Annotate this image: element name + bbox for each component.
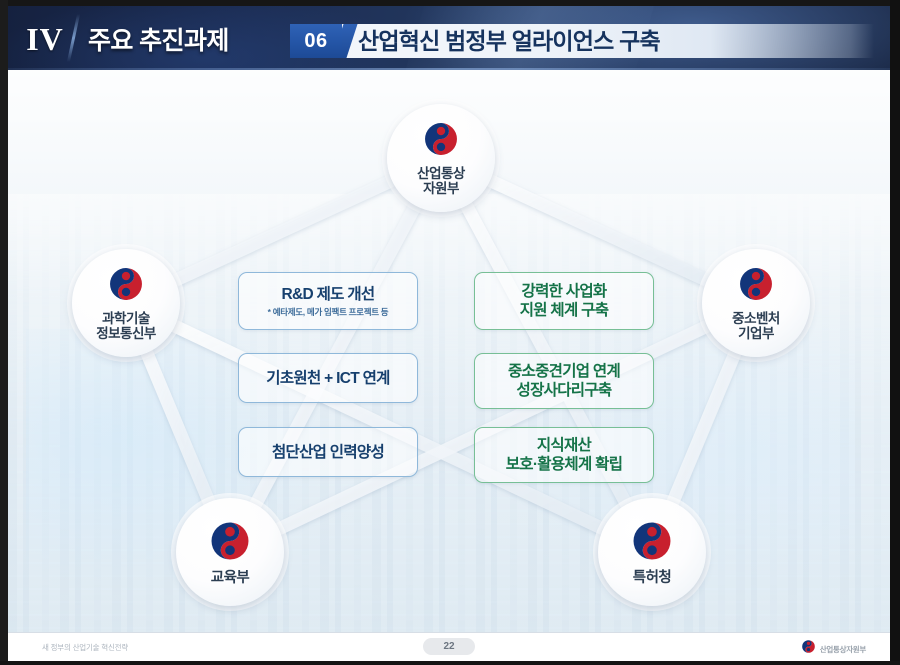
ministry-name-line1: 교육부 xyxy=(211,571,250,586)
ministry-name-line1: 중소벤처 xyxy=(732,311,780,326)
ministry-name-line2: 자원부 xyxy=(417,181,465,196)
slide-frame-top xyxy=(0,0,900,6)
card-title: 첨단산업 인력양성 xyxy=(272,443,384,462)
initiative-card-commercialization[interactable]: 강력한 사업화 지원 체계 구축 xyxy=(474,272,654,330)
page-title: 산업혁신 범정부 얼라이언스 구축 xyxy=(358,25,660,57)
ministry-name-line2: 기업부 xyxy=(732,326,780,341)
slide-frame-left xyxy=(0,0,8,665)
ministry-name-line1: 과학기술 xyxy=(96,311,156,326)
card-title-line2: 성장사다리구축 xyxy=(517,381,612,400)
footer-document-title: 새 정부의 산업기술 혁신전략 xyxy=(42,642,128,653)
item-number-badge: 06 xyxy=(290,24,342,58)
header-divider xyxy=(67,14,80,62)
initiative-card-talent[interactable]: 첨단산업 인력양성 xyxy=(238,427,418,477)
initiative-card-sme-growth-ladder[interactable]: 중소중견기업 연계 성장사다리구축 xyxy=(474,353,654,409)
korea-government-taegeuk-emblem-icon xyxy=(737,265,775,308)
ministry-node-moe[interactable]: 교육부 xyxy=(176,498,284,606)
card-title-line2: 보호·활용체계 확립 xyxy=(506,455,623,474)
ministry-name-line2: 정보통신부 xyxy=(96,326,156,341)
slide-header: IV 주요 추진과제 06 산업혁신 범정부 얼라이언스 구축 xyxy=(8,6,890,70)
korea-government-taegeuk-emblem-icon xyxy=(422,120,460,163)
card-title-line1: 중소중견기업 연계 xyxy=(508,362,620,381)
ministry-node-msit[interactable]: 과학기술 정보통신부 xyxy=(72,249,180,357)
card-title-line1: 지식재산 xyxy=(537,436,591,455)
slide-body: 산업통상 자원부 과학기술 정보통신부 xyxy=(8,70,890,633)
footer-logo-text: 산업통상자원부 xyxy=(820,644,866,655)
card-title: R&D 제도 개선 xyxy=(282,285,375,304)
initiative-card-rnd-system[interactable]: R&D 제도 개선 * 예타제도, 메가 임팩트 프로젝트 등 xyxy=(238,272,418,330)
alliance-diagram: 산업통상 자원부 과학기술 정보통신부 xyxy=(8,70,890,633)
korea-government-taegeuk-emblem-icon xyxy=(208,519,252,568)
presentation-slide: IV 주요 추진과제 06 산업혁신 범정부 얼라이언스 구축 xyxy=(0,0,900,665)
page-number-badge: 22 xyxy=(423,638,475,655)
ministry-name-line1: 산업통상 xyxy=(417,166,465,181)
initiative-card-ip-protection[interactable]: 지식재산 보호·활용체계 확립 xyxy=(474,427,654,483)
ministry-name-line1: 특허청 xyxy=(633,571,672,586)
ministry-node-motie[interactable]: 산업통상 자원부 xyxy=(387,104,495,212)
card-title-line1: 강력한 사업화 xyxy=(522,282,607,301)
section-title: 주요 추진과제 xyxy=(88,21,229,57)
card-title: 기초원천 + ICT 연계 xyxy=(266,369,389,388)
card-title-line2: 지원 체계 구축 xyxy=(520,301,609,320)
section-roman-numeral: IV xyxy=(24,20,66,58)
slide-frame-right xyxy=(890,0,900,665)
card-subtitle: * 예타제도, 메가 임팩트 프로젝트 등 xyxy=(268,307,389,318)
initiative-card-basic-ict[interactable]: 기초원천 + ICT 연계 xyxy=(238,353,418,403)
footer-logo: 산업통상자원부 xyxy=(801,639,866,659)
korea-government-taegeuk-emblem-icon xyxy=(107,265,145,308)
ministry-node-kipo[interactable]: 특허청 xyxy=(598,498,706,606)
slide-frame-bottom xyxy=(0,661,900,665)
ministry-node-mss[interactable]: 중소벤처 기업부 xyxy=(702,249,810,357)
slide-footer: 새 정부의 산업기술 혁신전략 22 산업통상자원부 xyxy=(8,632,890,661)
korea-government-taegeuk-emblem-icon xyxy=(801,639,816,659)
korea-government-taegeuk-emblem-icon xyxy=(630,519,674,568)
